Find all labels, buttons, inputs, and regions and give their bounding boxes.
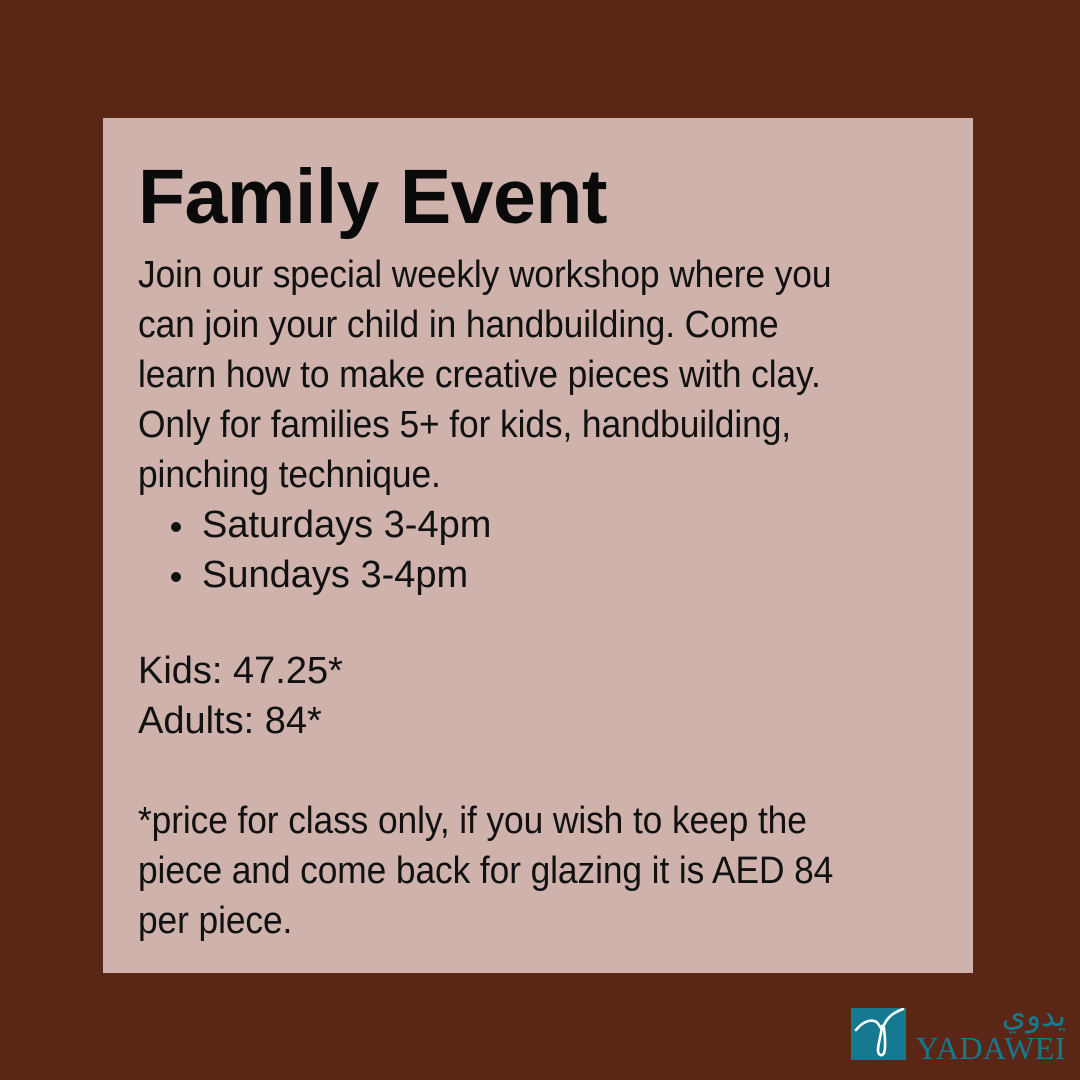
list-item: Sundays 3-4pm — [138, 550, 933, 600]
list-item: Saturdays 3-4pm — [138, 500, 933, 550]
schedule-label: Saturdays 3-4pm — [202, 504, 491, 546]
schedule-list: Saturdays 3-4pm Sundays 3-4pm — [138, 500, 933, 600]
intro-line: learn how to make creative pieces with c… — [138, 350, 877, 400]
logo-arabic-text: يدوي — [1002, 999, 1066, 1033]
footnote-line: piece and come back for glazing it is AE… — [138, 846, 877, 896]
footnote-line: *price for class only, if you wish to ke… — [138, 796, 877, 846]
footnote-line: per piece. — [138, 896, 877, 946]
price-kids: Kids: 47.25* — [138, 646, 933, 696]
intro-paragraph: Join our special weekly workshop where y… — [138, 250, 877, 500]
schedule-label: Sundays 3-4pm — [202, 554, 468, 596]
intro-line: can join your child in handbuilding. Com… — [138, 300, 877, 350]
page-title: Family Event — [138, 154, 933, 240]
footnote-paragraph: *price for class only, if you wish to ke… — [138, 796, 877, 946]
yadawei-mark-icon — [851, 1008, 906, 1060]
logo-wordmarks: يدوي YADAWEI — [919, 1000, 1066, 1062]
intro-line: pinching technique. — [138, 450, 877, 500]
bullet-dot-icon — [171, 522, 181, 532]
intro-line: Join our special weekly workshop where y… — [138, 250, 877, 300]
logo-latin-text: YADAWEI — [916, 1032, 1066, 1064]
brand-logo: يدوي YADAWEI — [851, 1000, 1066, 1062]
bullet-dot-icon — [171, 572, 181, 582]
price-adults: Adults: 84* — [138, 696, 933, 746]
poster-canvas: Family Event Join our special weekly wor… — [0, 0, 1080, 1080]
price-block: Kids: 47.25* Adults: 84* — [138, 646, 933, 746]
content-panel: Family Event Join our special weekly wor… — [103, 118, 973, 973]
intro-line: Only for families 5+ for kids, handbuild… — [138, 400, 877, 450]
